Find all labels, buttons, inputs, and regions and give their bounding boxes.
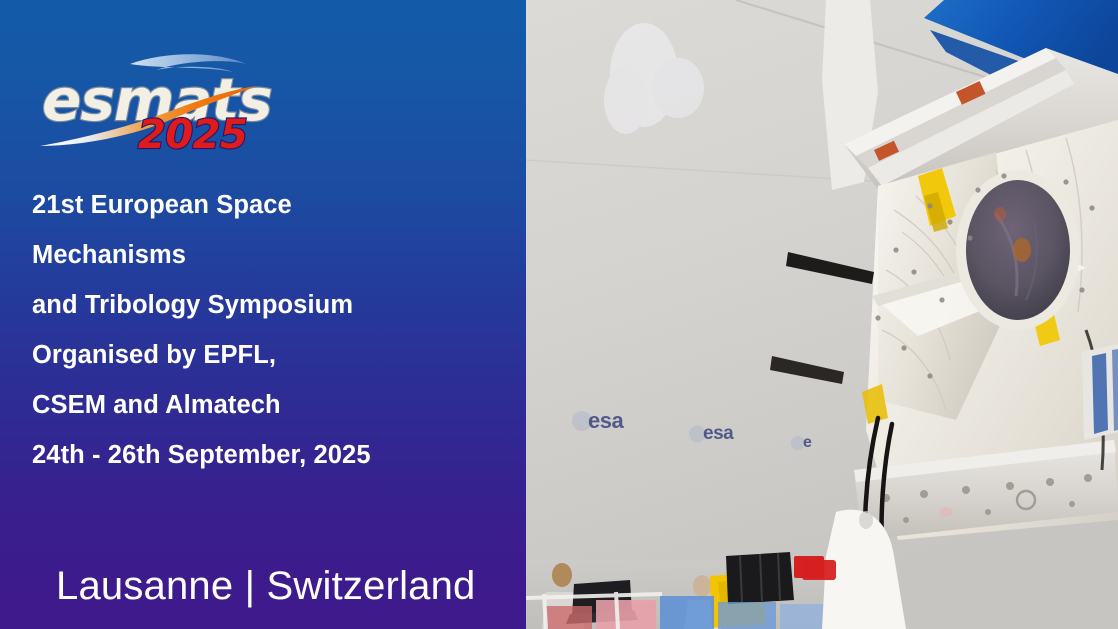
- logo-year: 2025: [138, 112, 247, 153]
- esa-logo-2: esa: [689, 421, 769, 447]
- esa-logo-3: e: [791, 432, 841, 454]
- title-line-4: Organised by EPFL,: [32, 330, 502, 380]
- title-line-3: and Tribology Symposium: [32, 280, 502, 330]
- title-line-6: 24th - 26th September, 2025: [32, 430, 502, 480]
- instrument-aperture: [956, 170, 1080, 330]
- esa-logo-2-label: esa: [703, 423, 733, 445]
- title-line-2: Mechanisms: [32, 230, 502, 280]
- esa-logo-1-label: esa: [588, 408, 623, 434]
- right-edge-equipment: [1082, 344, 1118, 440]
- cleanroom-spacecraft-photo: esa esa e: [526, 0, 1118, 629]
- esa-logo-3-label: e: [803, 434, 811, 452]
- esmats-2025-banner: esmats 2025 21st European Space Mechanis…: [0, 0, 1118, 629]
- title-line-5: CSEM and Almatech: [32, 380, 502, 430]
- person2-head: [693, 575, 711, 597]
- location-label: Lausanne | Switzerland: [56, 564, 476, 609]
- esa-logo-1: esa: [572, 406, 662, 436]
- esmats-logo: esmats 2025: [34, 48, 274, 153]
- title-line-1: 21st European Space: [32, 180, 502, 230]
- person-head: [552, 563, 572, 587]
- symposium-title-block: 21st European Space Mechanisms and Tribo…: [32, 180, 502, 480]
- left-info-panel: esmats 2025 21st European Space Mechanis…: [0, 0, 526, 629]
- cleanroom-photo-svg: [526, 0, 1118, 629]
- esmats-logo-svg: esmats 2025: [34, 48, 274, 153]
- red-tag: [802, 560, 836, 580]
